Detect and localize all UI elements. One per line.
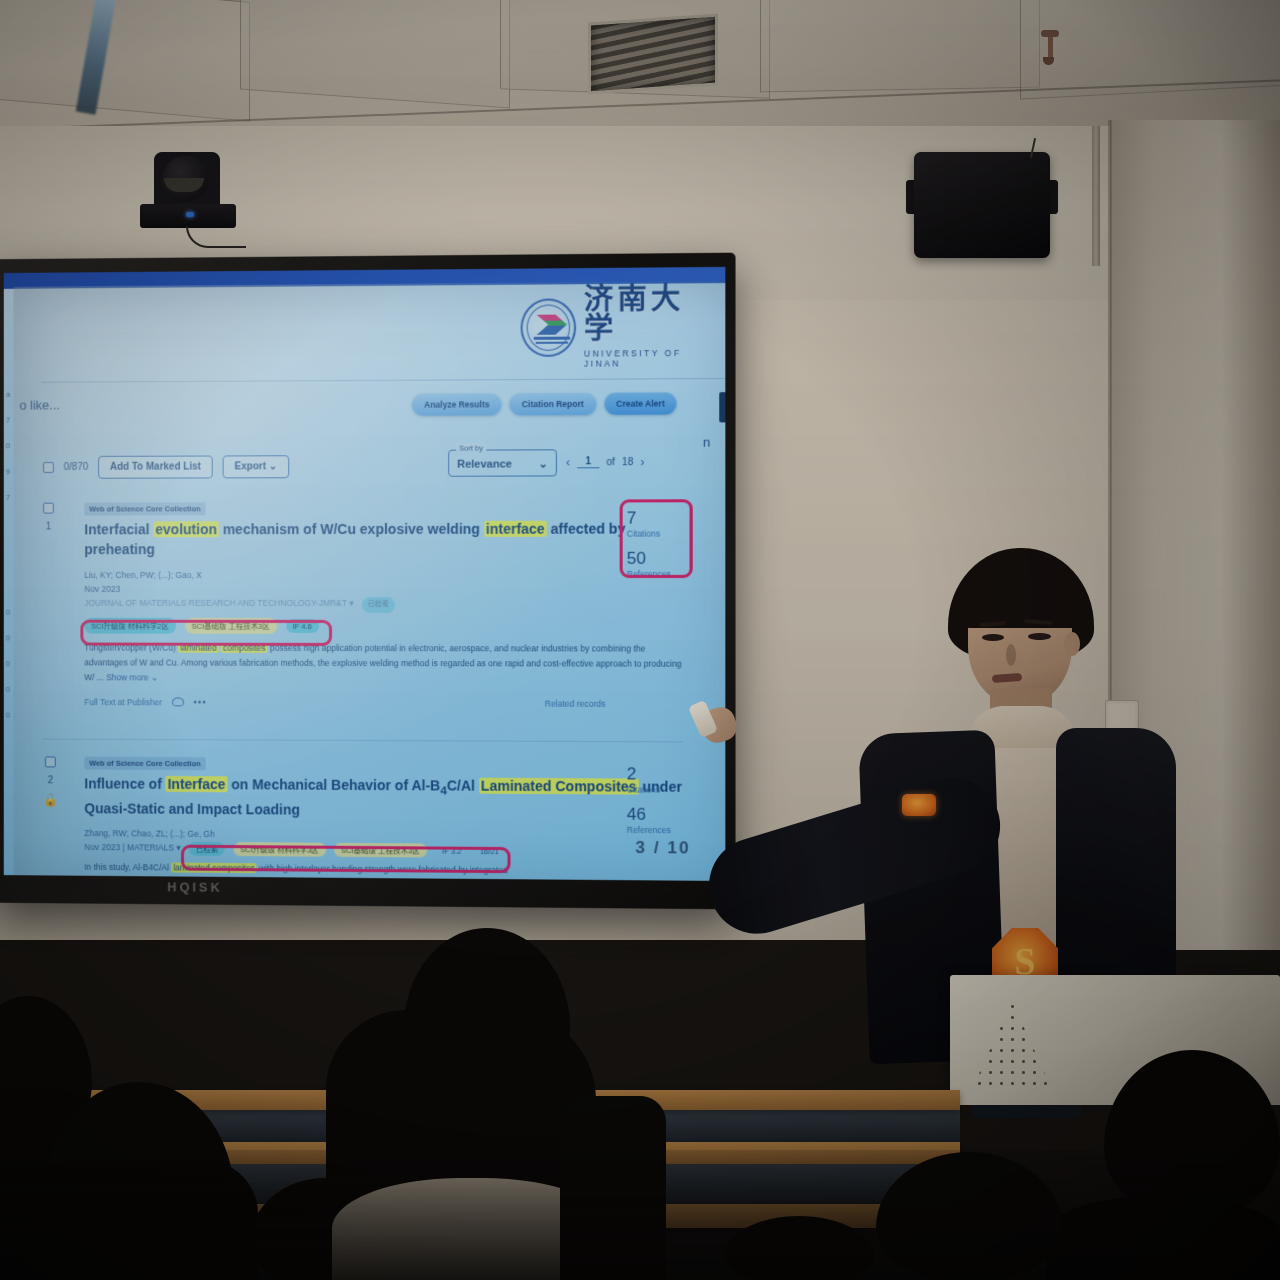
university-name-cn: 济南大学 <box>584 285 715 344</box>
record-checkbox[interactable] <box>43 503 54 514</box>
sort-by-select[interactable]: Sort by Relevance ⌄ <box>448 449 557 476</box>
university-seal-icon <box>521 298 576 357</box>
record-tags: SCI升级版 材料科学2区 SCI基础版 工程技术3区 IF 4.6 <box>84 618 682 635</box>
result-record-2: 2 🔓 Web of Science Core Collection Influ… <box>43 756 683 879</box>
references-count: 50 <box>627 548 671 569</box>
title-highlight: evolution <box>153 521 219 537</box>
search-teaser-text: o like... <box>19 398 59 413</box>
show-more-link[interactable]: Show more ⌄ <box>106 672 158 682</box>
jacket-sleeve-patch <box>902 794 936 816</box>
presenter-eye-left <box>982 634 1004 641</box>
chevron-down-icon: ⌄ <box>269 461 277 472</box>
ceiling-tile <box>0 0 250 122</box>
camera-led-icon <box>186 212 194 217</box>
select-all-checkbox[interactable] <box>43 462 54 473</box>
display-brand-logo: HQISK <box>167 879 223 894</box>
record-metrics: 2 Citations 46 References <box>627 763 671 836</box>
air-vent <box>588 13 718 94</box>
record-index-group: 2 🔓 <box>43 756 58 806</box>
open-access-icon <box>172 698 184 707</box>
wall-speaker <box>906 152 1058 264</box>
related-records-link[interactable]: Related records <box>545 699 683 710</box>
add-to-marked-list-button[interactable]: Add To Marked List <box>98 456 213 479</box>
university-name-en: UNIVERSITY OF JINAN <box>584 348 715 369</box>
citations-count: 7 <box>627 507 671 528</box>
ceiling-tile <box>760 0 1040 92</box>
sort-by-label: Sort by <box>456 444 486 453</box>
references-count: 46 <box>627 803 671 825</box>
export-button[interactable]: Export ⌄ <box>223 455 289 478</box>
title-highlight: Laminated Composites <box>479 778 639 795</box>
record-abstract: Tungsten/copper (W/Cu) laminated composi… <box>84 641 682 687</box>
record-date: Nov 2023 <box>84 582 682 597</box>
sidebar-fragment: 9 <box>6 467 10 476</box>
title-highlight: interface <box>484 521 547 537</box>
record-separator <box>43 739 683 743</box>
full-text-link[interactable]: Full Text at Publisher <box>84 697 162 707</box>
tag-rank: 16/21 <box>473 844 506 858</box>
prev-page-button[interactable]: ‹ <box>566 455 570 469</box>
title-highlight: Interface <box>166 776 228 792</box>
status-tag: 已检索 <box>362 597 395 613</box>
slide-page-indicator: 3 / 10 <box>635 838 690 859</box>
abstract-highlight: composites <box>221 643 268 653</box>
chevron-down-icon: ⌄ <box>539 457 548 470</box>
citation-report-button[interactable]: Citation Report <box>510 393 596 416</box>
title-part: on Mechanical Behavior of Al-B <box>227 776 440 793</box>
journal-name: JOURNAL OF MATERIALS RESEARCH AND TECHNO… <box>84 598 347 608</box>
scrollbar-thumb[interactable] <box>719 392 725 422</box>
result-record-1: 1 Web of Science Core Collection Interfa… <box>43 501 683 709</box>
title-part: mechanism of W/Cu explosive welding <box>219 521 484 537</box>
sidebar-fragment: 0 <box>6 608 10 617</box>
record-journal[interactable]: JOURNAL OF MATERIALS RESEARCH AND TECHNO… <box>84 596 682 613</box>
page-of-label: of <box>606 457 614 468</box>
tag-impact-factor: IF 3.2 <box>435 843 468 857</box>
record-authors[interactable]: Liu, KY; Chen, PW; (...); Gao, X <box>84 567 682 582</box>
results-toolbar: 0/870 Add To Marked List Export ⌄ <box>43 455 289 479</box>
tag-sci-basic: SCI基础版 工程技术3区 <box>334 843 427 858</box>
sort-by-value: Relevance <box>457 458 512 470</box>
record-index-group: 1 <box>43 503 54 533</box>
sidebar-fragment: 7 <box>6 416 10 425</box>
record-metrics: 7 Citations 50 References <box>627 507 671 579</box>
smart-display[interactable]: 济南大学 UNIVERSITY OF JINAN a 7 0 9 7 0 0 0… <box>0 253 736 910</box>
sidebar-fragment: 0 <box>6 685 10 694</box>
record-checkbox[interactable] <box>45 756 56 767</box>
abstract-highlight: laminated composites <box>171 863 256 874</box>
record-title[interactable]: Interfacial evolution mechanism of W/Cu … <box>84 518 682 559</box>
tag-sci-upgraded: SCI升级版 材料科学2区 <box>84 618 176 634</box>
lecture-hall-photo: 济南大学 UNIVERSITY OF JINAN a 7 0 9 7 0 0 0… <box>0 0 1280 1280</box>
more-options-icon[interactable]: ••• <box>194 697 207 707</box>
sprinkler-head <box>1043 30 1057 64</box>
record-abstract: In this study, Al-B4C/Al laminated compo… <box>84 860 682 880</box>
references-label[interactable]: References <box>627 569 671 580</box>
sidebar-fragment: 7 <box>6 493 10 502</box>
record-date: Nov 2023 <box>84 842 120 852</box>
source-badge: Web of Science Core Collection <box>84 757 205 771</box>
references-label[interactable]: References <box>627 825 671 836</box>
record-number: 2 <box>48 775 53 786</box>
sidebar-fragment: 0 <box>6 441 10 450</box>
analyze-results-button[interactable]: Analyze Results <box>412 393 502 415</box>
sidebar-fragment: 0 <box>6 659 10 668</box>
abstract-highlight: laminated <box>178 643 218 653</box>
title-part: Interfacial <box>84 521 153 537</box>
create-alert-button[interactable]: Create Alert <box>604 392 677 415</box>
pagination: ‹ 1 of 18 › <box>566 455 644 469</box>
tag-impact-factor: IF 4.6 <box>286 619 319 633</box>
record-number: 1 <box>46 522 51 533</box>
export-label: Export <box>235 461 266 472</box>
ceiling-tile <box>240 0 510 108</box>
title-part: C/Al <box>447 777 479 793</box>
citations-count: 2 <box>627 763 671 785</box>
journal-name: MATERIALS <box>127 843 174 853</box>
results-actions: Analyze Results Citation Report Create A… <box>412 392 677 415</box>
record-date-journal[interactable]: Nov 2023 | MATERIALS ▾ 已检索 SCI升级版 材料科学3区… <box>84 840 682 859</box>
tag-sci-upgraded: SCI升级版 材料科学3区 <box>233 842 325 857</box>
sidebar-fragments: a 7 0 9 7 0 0 0 0 0 <box>6 390 33 826</box>
presenter-ear <box>1064 632 1080 656</box>
university-logo: 济南大学 UNIVERSITY OF JINAN <box>521 295 716 359</box>
sidebar-fragment: 0 <box>6 711 10 720</box>
slide-divider <box>41 378 725 383</box>
next-page-button[interactable]: › <box>640 455 644 469</box>
record-title[interactable]: Influence of Interface on Mechanical Beh… <box>84 774 682 823</box>
presenter-nose <box>1006 644 1016 666</box>
citations-label: Citations <box>627 785 671 796</box>
sidebar-fragment: a <box>6 390 10 399</box>
right-edge-fragment: n <box>703 435 710 450</box>
sidebar-fragment: 0 <box>6 633 10 642</box>
foreground-shadow <box>0 1150 1280 1280</box>
podium-perforation-pattern <box>974 1001 1050 1085</box>
selected-count: 0/870 <box>64 462 89 473</box>
display-screen[interactable]: 济南大学 UNIVERSITY OF JINAN a 7 0 9 7 0 0 0… <box>4 267 726 881</box>
tag-status: 已检索 <box>189 842 225 856</box>
chevron-down-icon[interactable]: ▾ <box>349 598 353 608</box>
source-badge: Web of Science Core Collection <box>84 502 205 515</box>
presenter-eye-right <box>1028 633 1051 640</box>
citations-label: Citations <box>627 529 671 540</box>
ptz-camera <box>140 150 236 242</box>
page-number-input[interactable]: 1 <box>577 456 599 468</box>
total-pages: 18 <box>622 457 633 468</box>
chevron-down-icon[interactable]: ▾ <box>176 843 180 853</box>
open-access-lock-icon: 🔓 <box>43 794 58 806</box>
title-part: Influence of <box>84 776 165 792</box>
wall-conduit <box>1092 126 1100 266</box>
record-links: Full Text at Publisher ••• Related recor… <box>84 697 682 709</box>
tag-sci-basic: SCI基础版 工程技术3区 <box>185 618 277 634</box>
slide-web-of-science: 济南大学 UNIVERSITY OF JINAN a 7 0 9 7 0 0 0… <box>4 267 726 881</box>
ceiling <box>0 0 1280 132</box>
